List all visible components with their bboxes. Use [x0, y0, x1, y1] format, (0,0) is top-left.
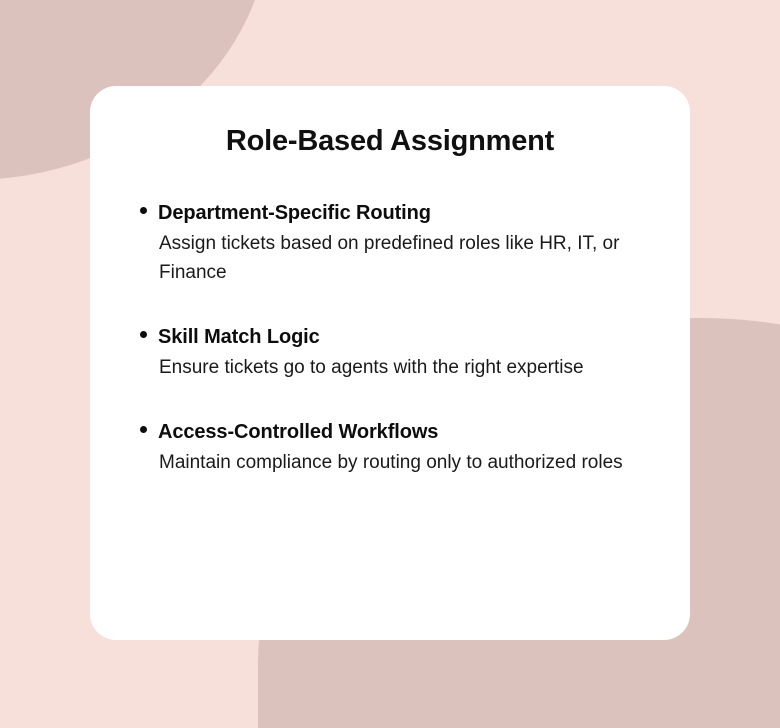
list-item-heading: Access-Controlled Workflows — [158, 418, 650, 447]
list-item-heading: Department-Specific Routing — [158, 199, 650, 228]
bullet-dot-icon — [140, 331, 147, 338]
page-title: Role-Based Assignment — [90, 86, 690, 159]
slide-canvas: Role-Based Assignment Department-Specifi… — [0, 0, 780, 728]
list-item: Skill Match Logic Ensure tickets go to a… — [158, 323, 650, 383]
content-card: Role-Based Assignment Department-Specifi… — [90, 86, 690, 640]
bullet-dot-icon — [140, 207, 147, 214]
feature-bullet-list: Department-Specific Routing Assign ticke… — [90, 159, 690, 478]
list-item-description: Ensure tickets go to agents with the rig… — [158, 353, 629, 383]
list-item-heading: Skill Match Logic — [158, 323, 650, 352]
list-item: Access-Controlled Workflows Maintain com… — [158, 418, 650, 478]
bullet-dot-icon — [140, 426, 147, 433]
list-item: Department-Specific Routing Assign ticke… — [158, 199, 650, 288]
list-item-description: Maintain compliance by routing only to a… — [158, 448, 629, 478]
list-item-description: Assign tickets based on predefined roles… — [158, 229, 629, 288]
